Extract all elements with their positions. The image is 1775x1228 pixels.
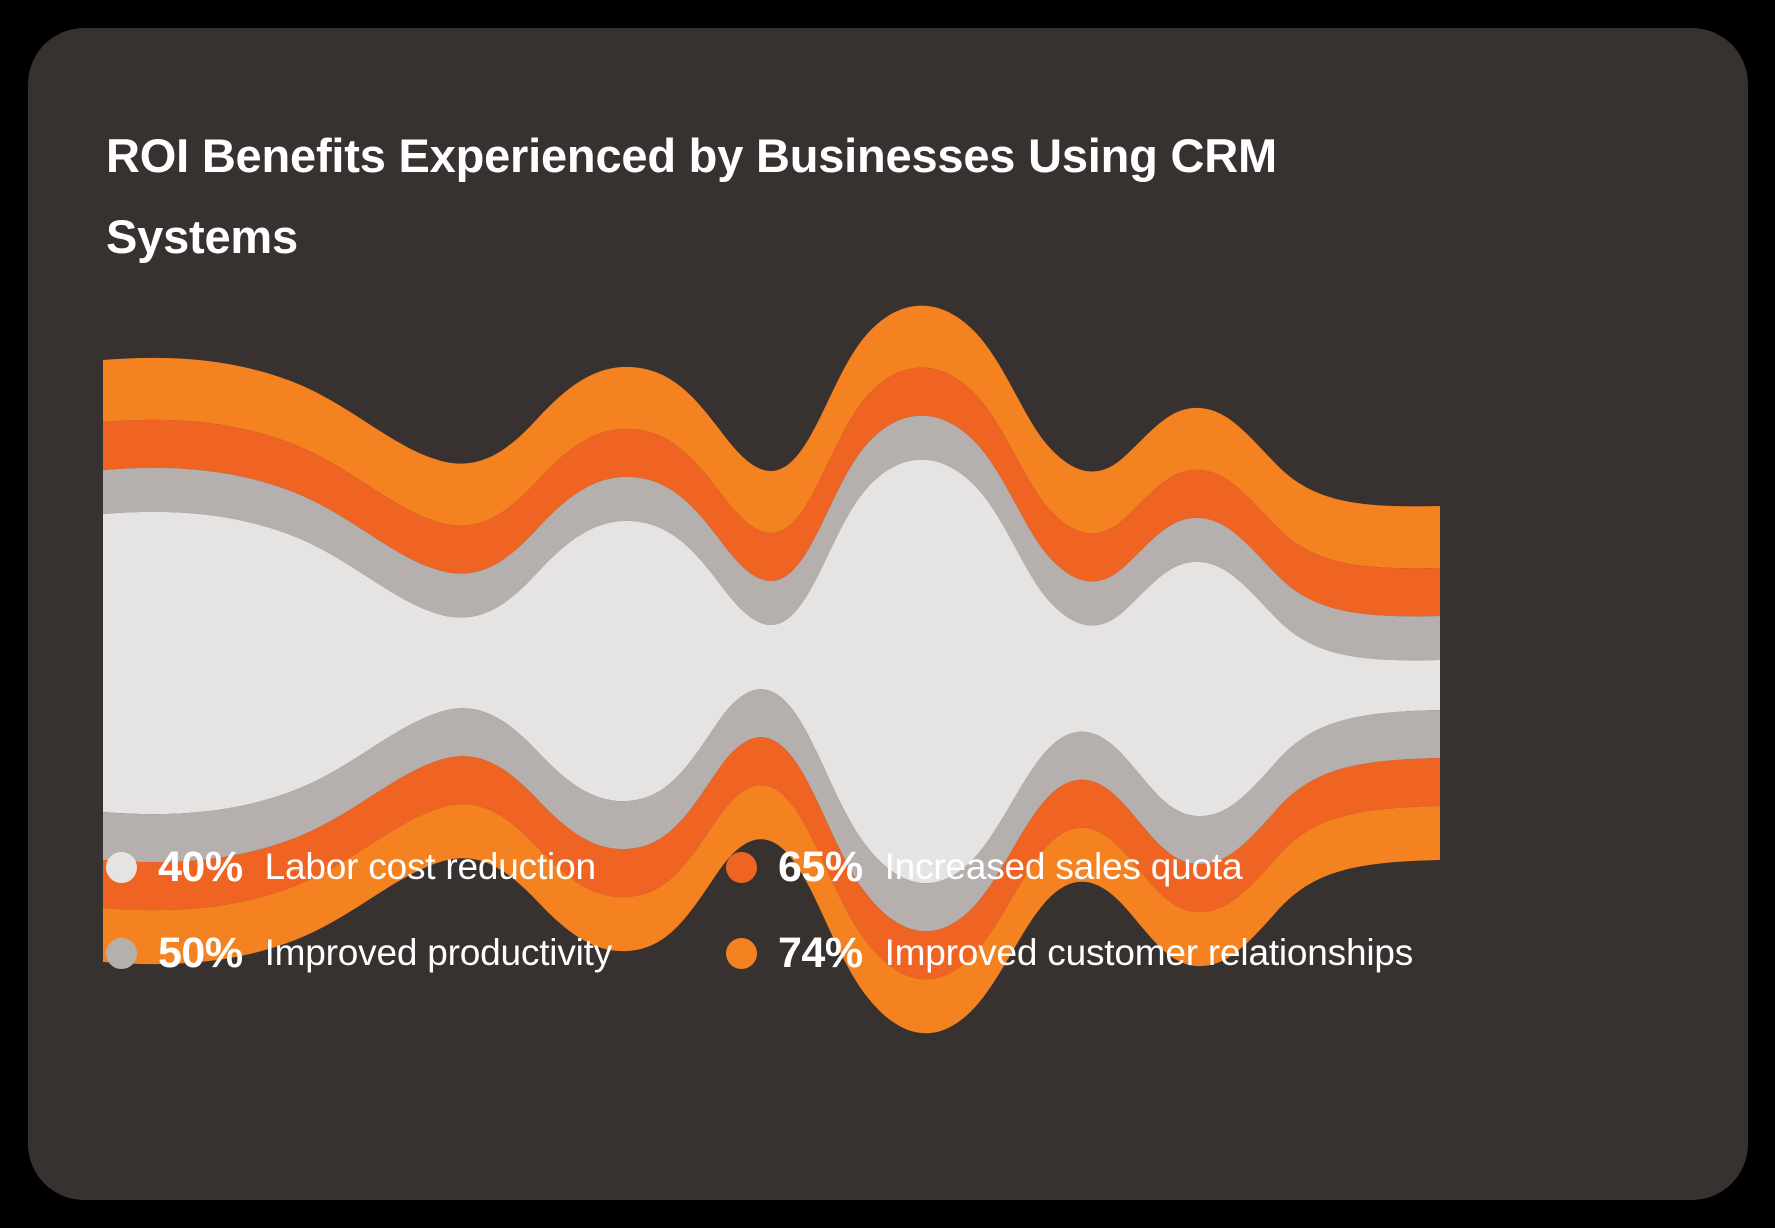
page-title-line-2: Systems [106, 197, 1526, 278]
legend-value: 50% [158, 929, 243, 978]
legend-dot-icon [106, 938, 137, 969]
chart-legend: 40% Labor cost reduction 65% Increased s… [106, 824, 1526, 996]
legend-label: Labor cost reduction [265, 846, 596, 888]
legend-value: 74% [778, 929, 863, 978]
legend-dot-icon [106, 852, 137, 883]
band-65-increased-sales-quota [103, 368, 1440, 617]
legend-dot-icon [726, 938, 757, 969]
legend-value: 65% [778, 843, 863, 892]
page-title-line-1: ROI Benefits Experienced by Businesses U… [106, 116, 1526, 197]
infographic-card: ROI Benefits Experienced by Businesses U… [28, 28, 1748, 1200]
legend-label: Improved customer relationships [885, 932, 1413, 974]
legend-item-improved-customer-relationships[interactable]: 74% Improved customer relationships [726, 929, 1526, 978]
legend-label: Improved productivity [265, 932, 612, 974]
legend-label: Increased sales quota [885, 846, 1243, 888]
legend-item-increased-sales-quota[interactable]: 65% Increased sales quota [726, 843, 1526, 892]
legend-dot-icon [726, 852, 757, 883]
band-40-labor-cost-reduction [103, 460, 1440, 884]
legend-value: 40% [158, 843, 243, 892]
legend-item-improved-productivity[interactable]: 50% Improved productivity [106, 929, 726, 978]
band-74-improved-customer-relationships [103, 306, 1440, 569]
legend-item-labor-cost-reduction[interactable]: 40% Labor cost reduction [106, 843, 726, 892]
page-title: ROI Benefits Experienced by Businesses U… [106, 116, 1526, 278]
band-50-improved-productivity [103, 416, 1440, 661]
screenshot-root: ROI Benefits Experienced by Businesses U… [0, 0, 1775, 1228]
